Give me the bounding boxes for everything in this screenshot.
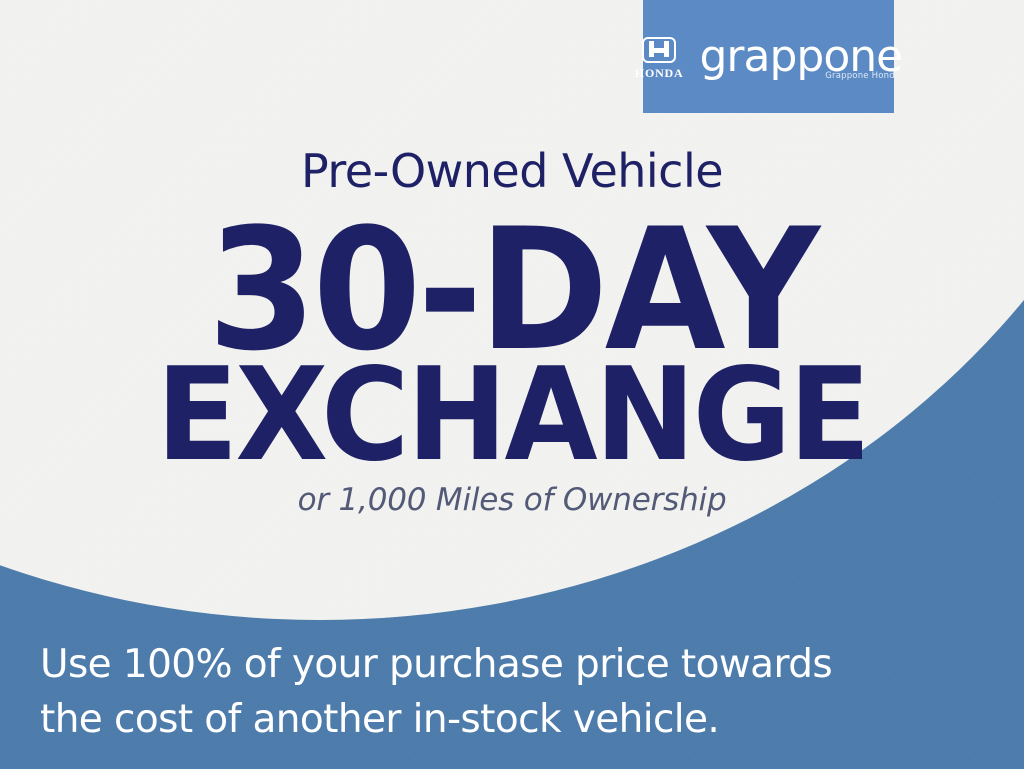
dealer-logo-box: HONDA grappone Grappone Honda <box>643 0 894 113</box>
grappone-tagline: Grappone Honda <box>825 72 900 81</box>
grappone-logo: grappone Grappone Honda <box>699 37 902 77</box>
body-copy-line-1: Use 100% of your purchase price towards <box>40 637 840 692</box>
promo-graphic: HONDA grappone Grappone Honda Pre-Owned … <box>0 0 1024 769</box>
eyebrow-text: Pre-Owned Vehicle <box>0 148 1024 194</box>
body-copy: Use 100% of your purchase price towards … <box>40 637 840 748</box>
headline-secondary: EXCHANGE <box>31 352 994 480</box>
honda-h-crossbar <box>649 48 669 53</box>
headline-subline: or 1,000 Miles of Ownership <box>0 485 1024 516</box>
body-copy-line-2: the cost of another in-stock vehicle. <box>40 692 840 747</box>
honda-logo: HONDA <box>635 37 684 79</box>
honda-wordmark: HONDA <box>635 67 684 79</box>
honda-h-emblem-icon <box>642 37 676 63</box>
